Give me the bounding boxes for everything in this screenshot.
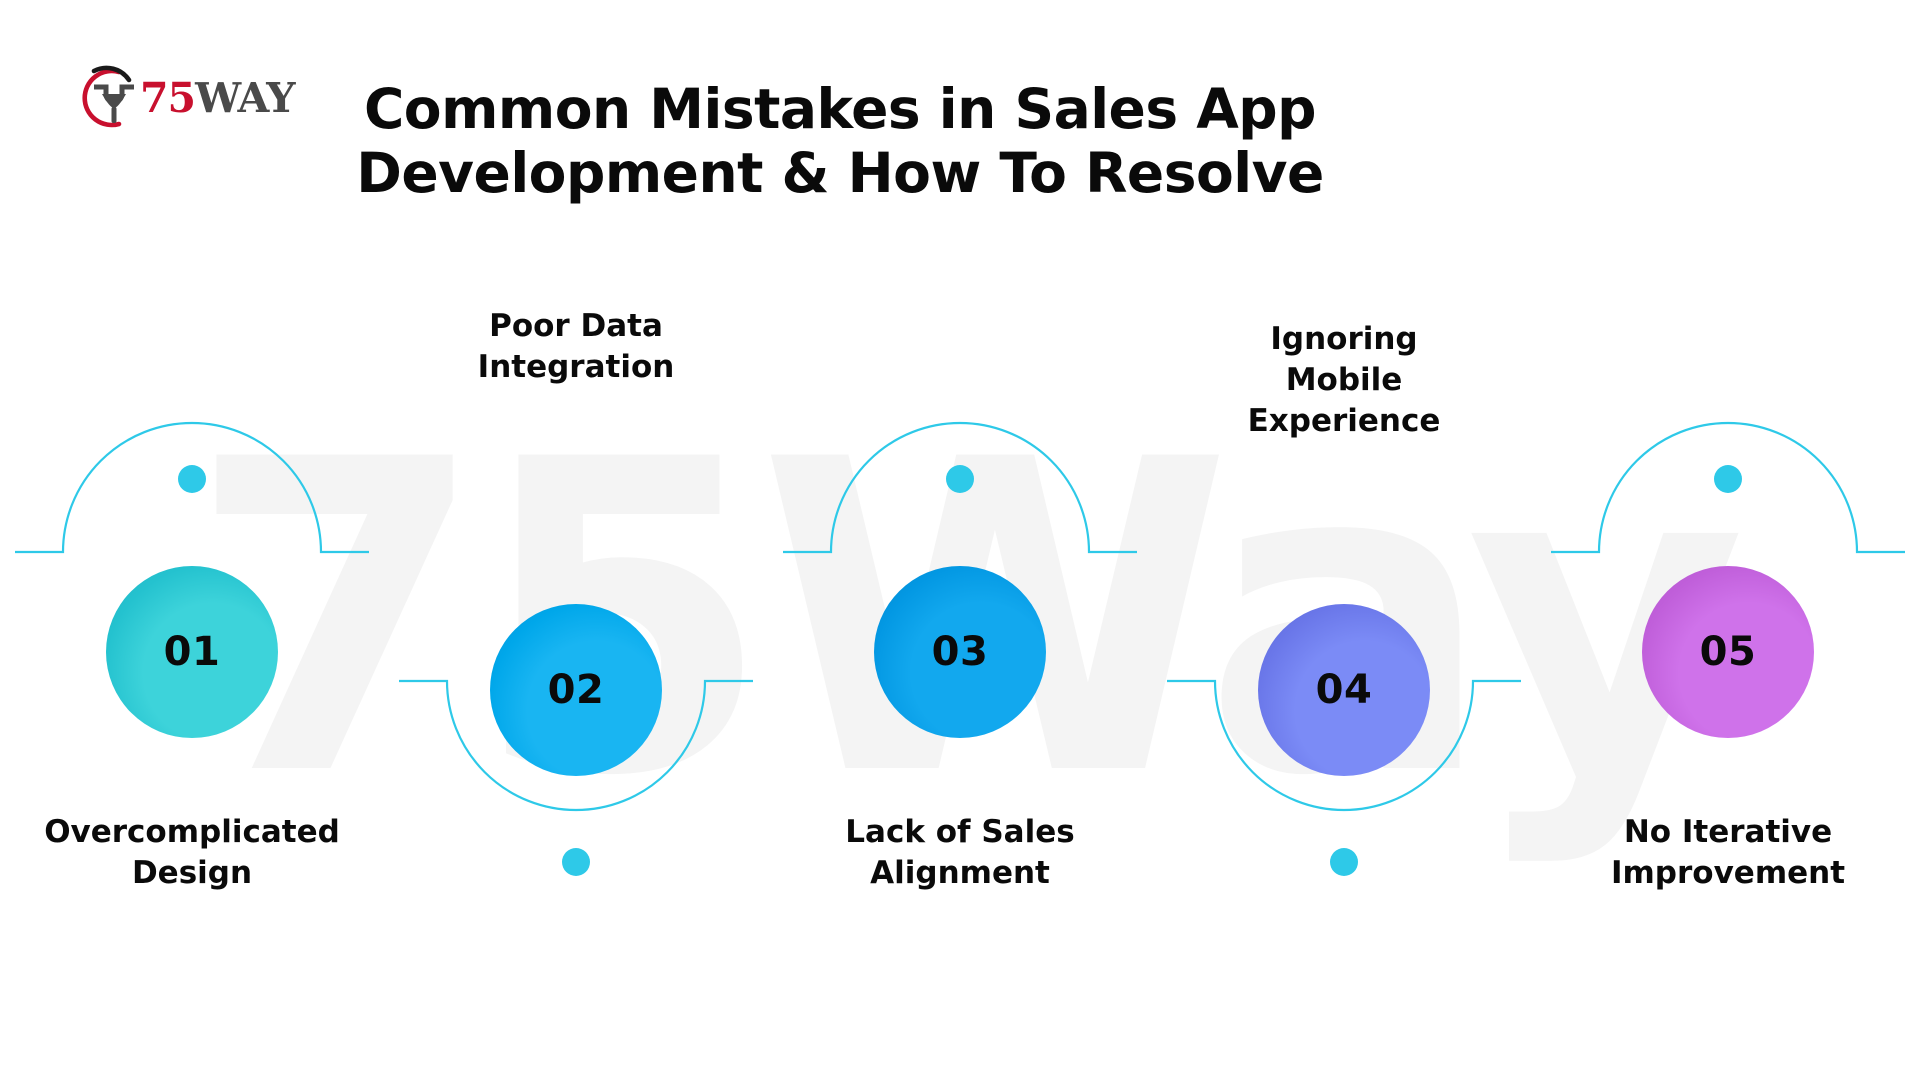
step-number-bubble-03[interactable]: 03: [874, 566, 1046, 738]
step-number-label: 03: [932, 629, 989, 675]
step-label-line: Integration: [406, 347, 746, 388]
step-label-line: Experience: [1174, 401, 1514, 442]
step-node-05: 05No IterativeImprovement: [1536, 0, 1920, 1080]
step-label-line: Poor Data: [406, 306, 746, 347]
step-dot-05: [1714, 465, 1742, 493]
step-number-bubble-01[interactable]: 01: [106, 566, 278, 738]
step-label-03: Lack of SalesAlignment: [790, 812, 1130, 894]
step-dot-02: [562, 848, 590, 876]
step-number-label: 05: [1700, 629, 1757, 675]
step-label-line: Improvement: [1558, 853, 1898, 894]
step-label-05: No IterativeImprovement: [1558, 812, 1898, 894]
step-number-label: 01: [164, 629, 221, 675]
step-label-line: Alignment: [790, 853, 1130, 894]
page-title-line-1: Common Mistakes in Sales App: [330, 78, 1350, 142]
step-label-line: Mobile: [1174, 360, 1514, 401]
brand-logo[interactable]: 75WAY: [72, 62, 312, 134]
step-label-line: Design: [22, 853, 362, 894]
step-label-line: Overcomplicated: [22, 812, 362, 853]
step-dot-01: [178, 465, 206, 493]
step-number-bubble-04[interactable]: 04: [1258, 604, 1430, 776]
page-title: Common Mistakes in Sales App Development…: [330, 78, 1350, 206]
page-title-line-2: Development & How To Resolve: [330, 142, 1350, 206]
logo-wordmark: 75WAY: [140, 78, 295, 119]
logo-wordmark-primary: 75: [140, 74, 195, 122]
infographic-canvas: 75Way 75WAY Common Mistakes in Sales App…: [0, 0, 1920, 1080]
step-number-label: 04: [1316, 667, 1373, 713]
step-node-01: 01OvercomplicatedDesign: [0, 0, 384, 1080]
step-label-line: Ignoring: [1174, 319, 1514, 360]
step-number-label: 02: [548, 667, 605, 713]
step-label-01: OvercomplicatedDesign: [22, 812, 362, 894]
step-label-04: IgnoringMobileExperience: [1174, 319, 1514, 442]
step-number-bubble-02[interactable]: 02: [490, 604, 662, 776]
step-label-line: No Iterative: [1558, 812, 1898, 853]
logo-wordmark-secondary: WAY: [195, 74, 294, 122]
step-label-line: Lack of Sales: [790, 812, 1130, 853]
step-label-02: Poor DataIntegration: [406, 306, 746, 388]
step-dot-03: [946, 465, 974, 493]
step-number-bubble-05[interactable]: 05: [1642, 566, 1814, 738]
logo-crest-icon: [72, 63, 146, 133]
step-dot-04: [1330, 848, 1358, 876]
